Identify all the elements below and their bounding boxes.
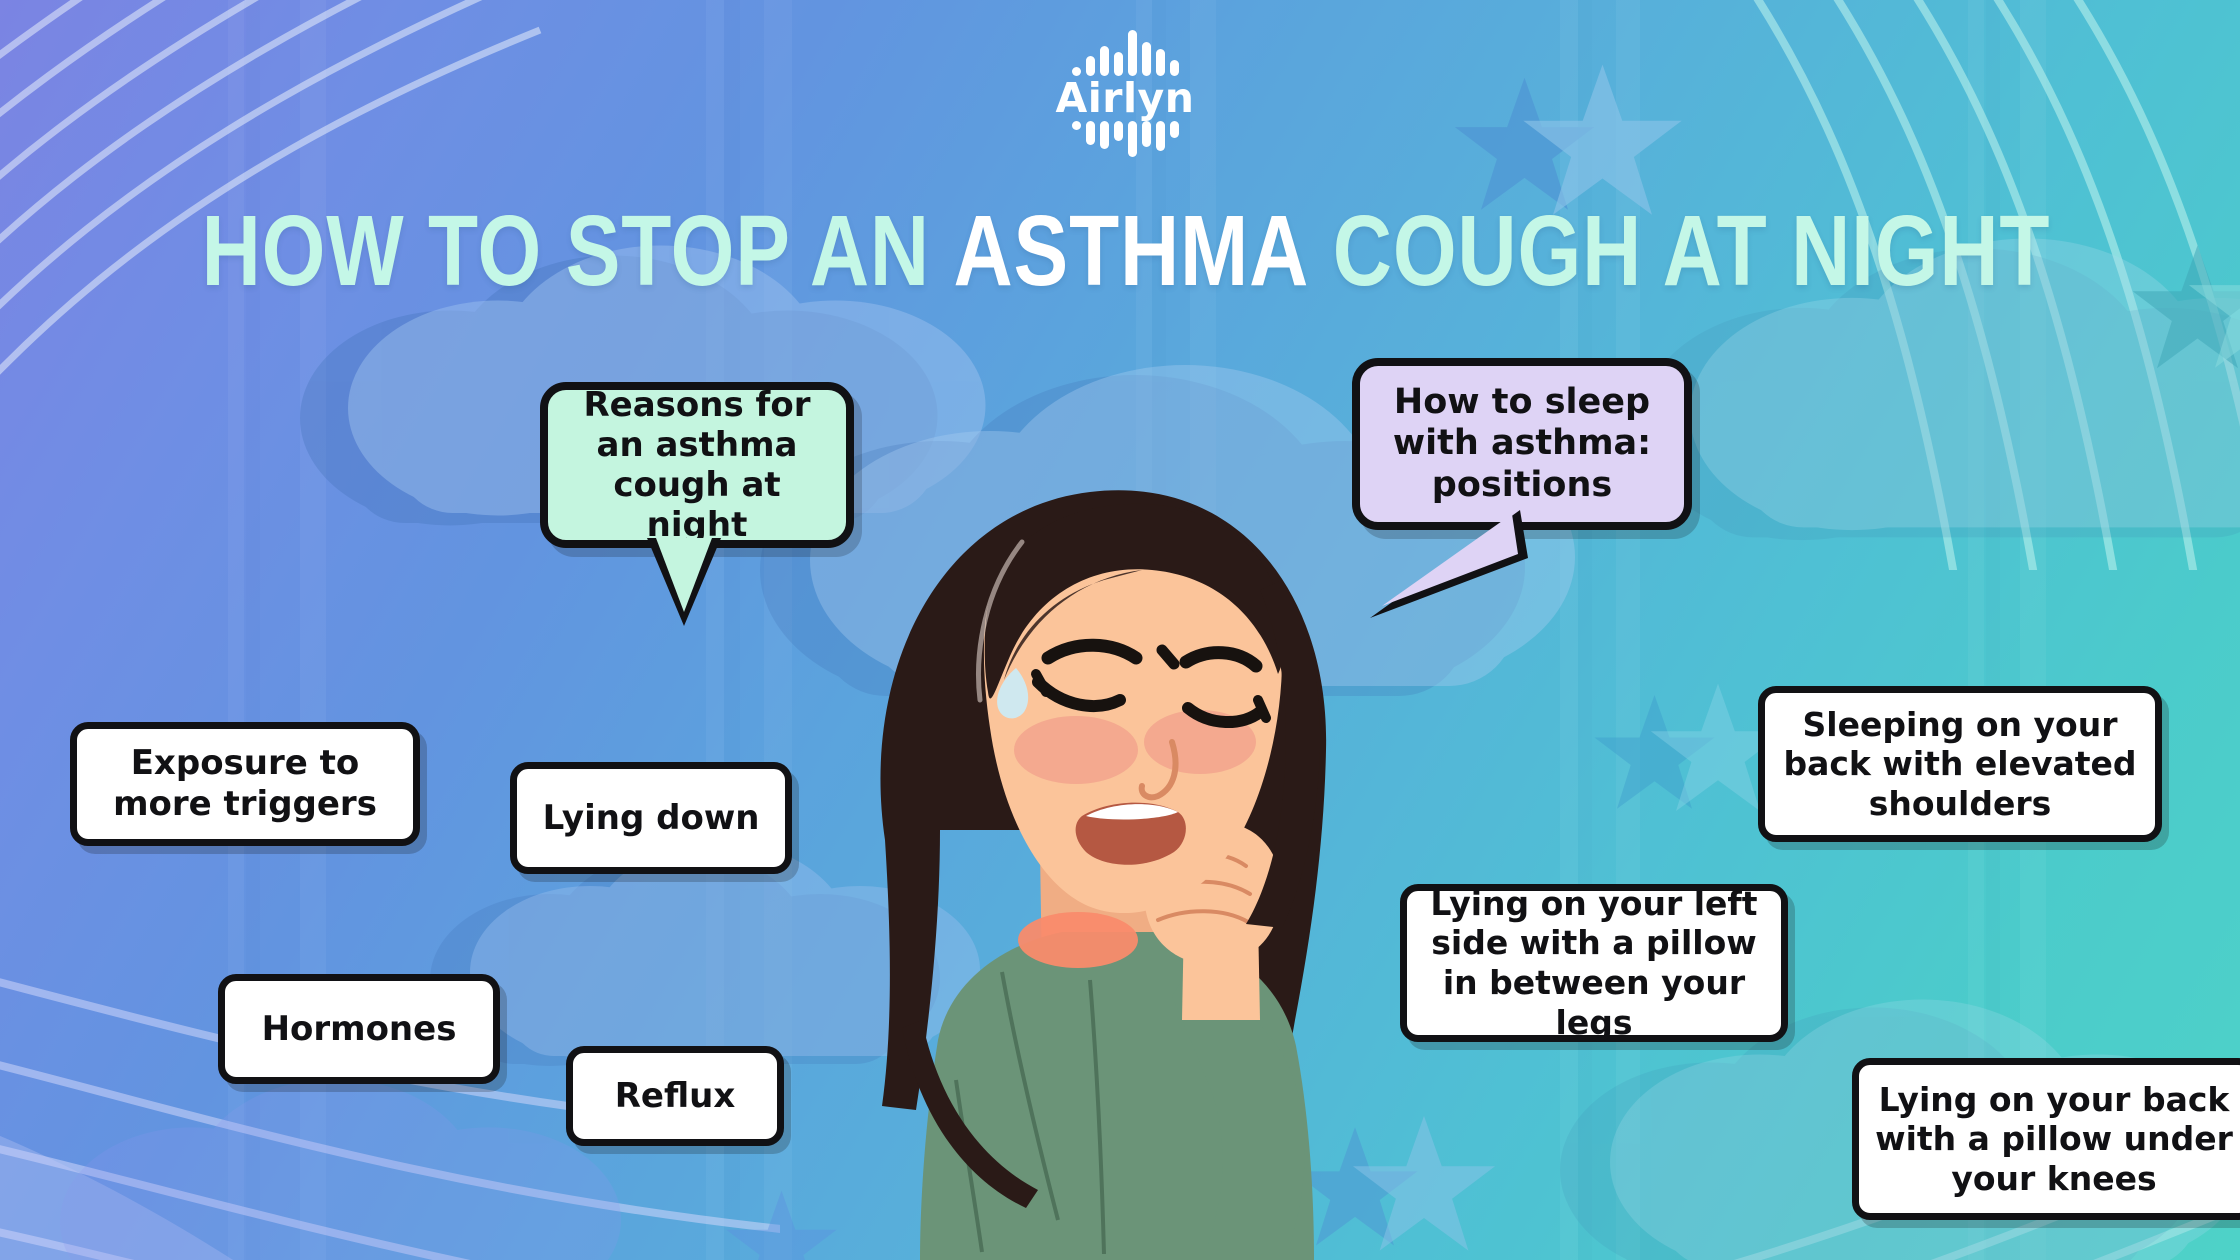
label-card-left-side-text: Lying on your left side with a pillow in… [1423,884,1765,1042]
label-card-exposure-text: Exposure to more triggers [93,743,397,825]
soundwave-bar-6 [1156,121,1165,151]
label-card-reflux: Reflux [566,1046,784,1146]
soundwave-bar-5 [1142,121,1151,147]
soundwave-bars-bottom-icon [1072,121,1179,160]
speech-bubble-positions: How to sleep with asthma: positions [1352,358,1692,530]
label-card-back-knees-text: Lying on your back with a pillow under y… [1875,1080,2233,1199]
soundwave-bar-0 [1072,121,1081,130]
bubble-tail-icon [1382,514,1522,606]
label-card-hormones: Hormones [218,974,500,1084]
infographic-canvas: Airlyn HOW TO STOP AN ASTHMA COUGH AT NI… [0,0,2240,1260]
label-card-left-side: Lying on your left side with a pillow in… [1400,884,1788,1042]
label-card-lying-down: Lying down [510,762,792,874]
soundwave-bar-2 [1100,121,1109,149]
soundwave-bar-2 [1100,46,1109,76]
brand-name: Airlyn [1056,78,1195,119]
label-card-reflux-text: Reflux [615,1076,736,1117]
label-card-sleeping-back: Sleeping on your back with elevated shou… [1758,686,2162,842]
brand-logo: Airlyn [1050,30,1200,160]
bubble-tail-icon [656,538,712,612]
soundwave-bar-1 [1086,56,1095,76]
label-card-sleeping-back-text: Sleeping on your back with elevated shou… [1781,705,2139,824]
label-card-hormones-text: Hormones [262,1009,457,1050]
soundwave-bar-1 [1086,121,1095,145]
label-card-lying-down-text: Lying down [543,798,760,839]
soundwave-bar-7 [1170,121,1179,138]
label-card-back-knees: Lying on your back with a pillow under y… [1852,1058,2240,1220]
speech-bubble-reasons-text: Reasons for an asthma cough at night [566,385,828,545]
soundwave-bar-3 [1114,121,1123,141]
soundwave-bar-5 [1142,42,1151,76]
speech-bubble-positions-text: How to sleep with asthma: positions [1378,382,1666,506]
soundwave-bar-6 [1156,49,1165,76]
soundwave-bars-top-icon [1072,30,1179,76]
blush-left [1014,716,1138,784]
page-title: HOW TO STOP AN ASTHMA COUGH AT NIGHT [202,198,2039,304]
woman-coughing-illustration [790,420,1410,1260]
soundwave-bar-4 [1128,121,1137,157]
title-part-2: COUGH AT NIGHT [1333,195,2051,307]
title-part-1: HOW TO STOP AN [202,195,930,307]
soundwave-bar-4 [1128,30,1137,76]
soundwave-bar-3 [1114,52,1123,76]
speech-bubble-reasons: Reasons for an asthma cough at night [540,382,854,548]
title-highlight: ASTHMA [954,195,1310,307]
label-card-exposure: Exposure to more triggers [70,722,420,846]
throat-irritation-highlight [1018,912,1138,968]
